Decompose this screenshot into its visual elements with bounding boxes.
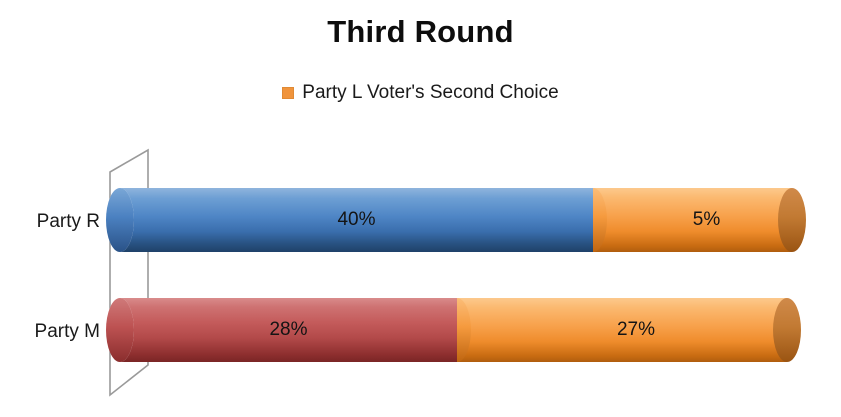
category-label-party-r: Party R	[37, 211, 100, 233]
category-label-party-m: Party M	[35, 321, 100, 343]
bar-value-party-m-base: 28%	[120, 298, 457, 362]
bar-value-party-m-second-choice: 27%	[457, 298, 801, 362]
plot-area: Party R Party M 40% 5%	[0, 0, 841, 417]
chart-container: Third Round Party L Voter's Second Choic…	[0, 0, 841, 417]
bar-value-party-r-second-choice: 5%	[593, 188, 806, 252]
bar-value-party-r-base: 40%	[120, 188, 593, 252]
